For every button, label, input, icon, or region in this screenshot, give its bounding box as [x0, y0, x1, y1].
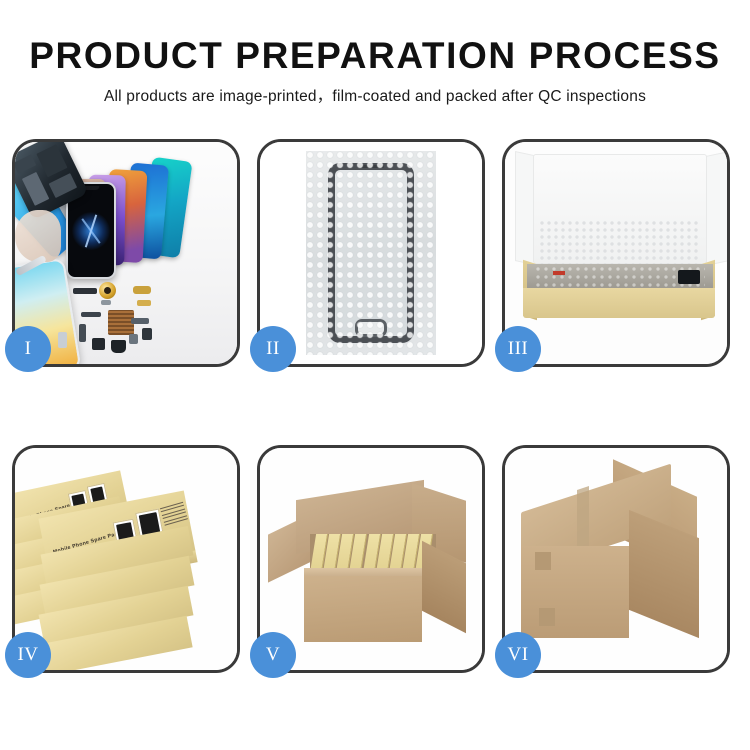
kraft-tray-icon [523, 288, 715, 318]
process-step-4: Mobile Phone Spare Parts [12, 445, 240, 673]
process-step-3: III [502, 139, 730, 367]
hand-icon [15, 210, 61, 262]
flex-cable-icon [73, 288, 97, 294]
process-step-1: I [12, 139, 240, 367]
page-subtitle: All products are image-printed，film-coat… [0, 87, 750, 107]
box-stack: Mobile Phone Spare Parts [15, 448, 237, 670]
speaker-coil-icon [99, 282, 116, 299]
antenna-strip-icon [131, 318, 149, 324]
phone-parts-scene [15, 142, 237, 364]
open-kraft-box-scene [505, 142, 727, 364]
bubble-texture-icon [306, 151, 436, 355]
step-badge-2: II [250, 326, 296, 372]
ribbon-cable-icon [81, 312, 101, 317]
step-4-image: Mobile Phone Spare Parts [15, 448, 237, 670]
carton-front-face-icon [304, 576, 422, 642]
step-5-image [260, 448, 482, 670]
step-badge-5: V [250, 632, 296, 678]
process-step-grid: I II [12, 139, 740, 695]
step-3-image [505, 142, 727, 364]
page-title: PRODUCT PREPARATION PROCESS [0, 34, 750, 78]
product-process-infographic: PRODUCT PREPARATION PROCESS All products… [0, 0, 750, 750]
gold-connector-icon [133, 286, 151, 294]
sim-tray-icon [58, 332, 67, 348]
carton-seam-icon [577, 486, 589, 552]
speaker-module-icon [111, 340, 126, 353]
screw-set-icon [101, 300, 111, 305]
sealed-carton-scene [505, 448, 727, 670]
connector-icon [678, 270, 700, 284]
side-button-icon [79, 324, 86, 342]
bubble-wrap-sheet-icon [306, 151, 436, 355]
step-1-image [15, 142, 237, 364]
foam-padding-icon [539, 220, 699, 266]
step-badge-6: VI [495, 632, 541, 678]
vibrator-icon [129, 334, 138, 344]
process-step-2: II [257, 139, 485, 367]
wallpaper-art-icon [72, 212, 110, 250]
bubble-wrap-scene [260, 142, 482, 364]
gold-flex-icon [137, 300, 151, 306]
step-6-image [505, 448, 727, 670]
bracket-icon [142, 328, 152, 340]
process-step-6: VI [502, 445, 730, 673]
tape-tab-top-icon [535, 552, 551, 570]
step-badge-4: IV [5, 632, 51, 678]
red-label-icon [553, 271, 565, 275]
process-step-5: V [257, 445, 485, 673]
box-spec-lines [160, 502, 189, 528]
stacked-boxes-scene: Mobile Phone Spare Parts [15, 448, 237, 670]
camera-module-icon [92, 338, 105, 350]
header: PRODUCT PREPARATION PROCESS All products… [0, 0, 750, 107]
open-carton-scene [260, 448, 482, 670]
step-badge-1: I [5, 326, 51, 372]
step-2-image [260, 142, 482, 364]
step-badge-3: III [495, 326, 541, 372]
tape-tab-bottom-icon [539, 608, 555, 626]
wrapped-product-icon [535, 266, 705, 288]
